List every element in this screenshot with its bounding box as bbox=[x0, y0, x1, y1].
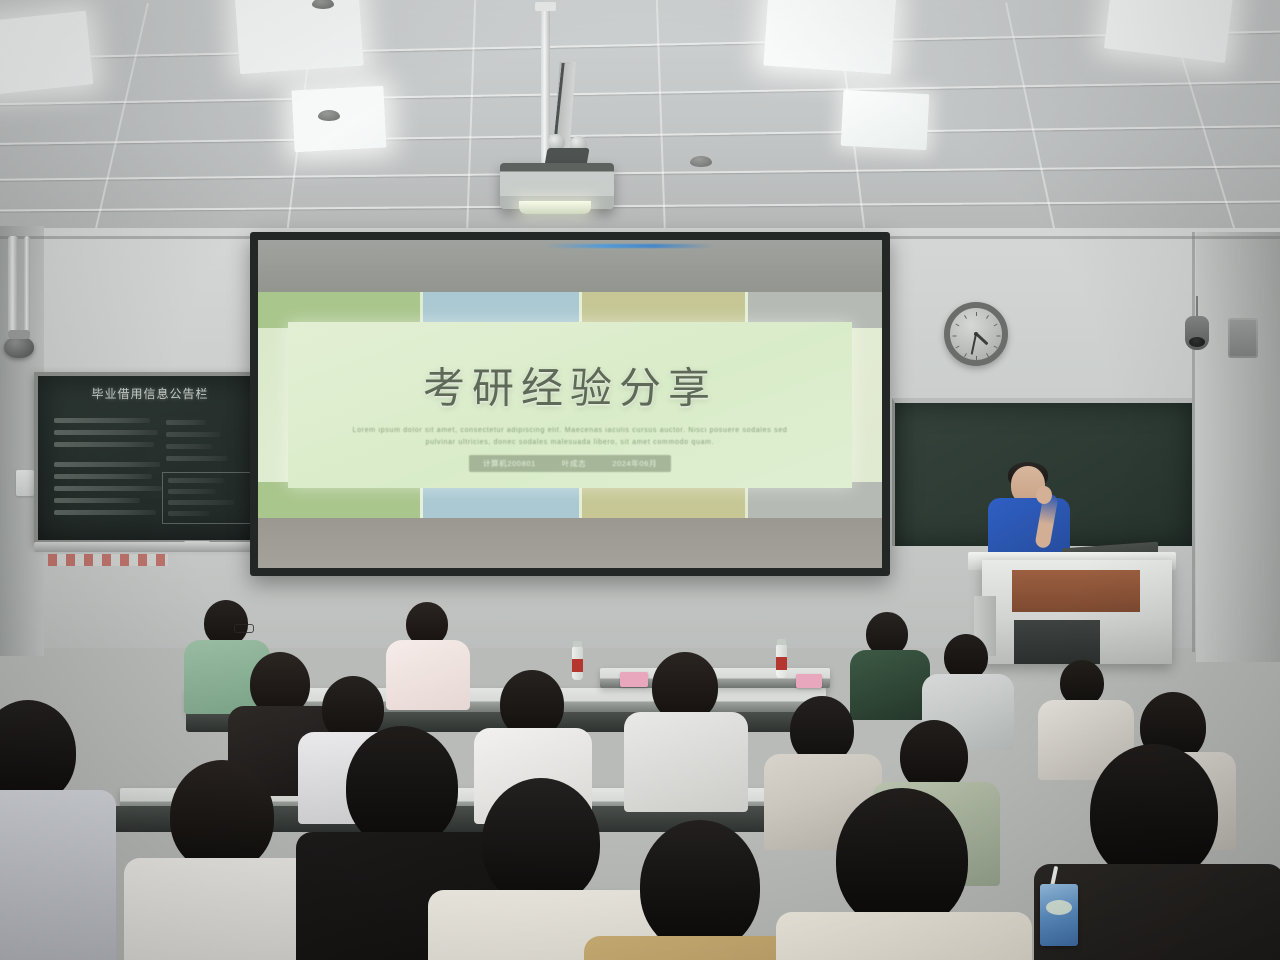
head bbox=[640, 820, 760, 952]
torso bbox=[776, 912, 1032, 960]
right-wall bbox=[1196, 232, 1280, 662]
ceiling-grid bbox=[0, 0, 1280, 240]
ceiling bbox=[0, 0, 1280, 240]
dome-camera-icon bbox=[4, 336, 34, 358]
torso bbox=[624, 712, 748, 812]
torso bbox=[386, 640, 470, 710]
projector-lens bbox=[519, 201, 591, 214]
podium-wood-panel bbox=[1012, 570, 1140, 612]
classroom-photo: 毕业借用信息公告栏 bbox=[0, 0, 1280, 960]
blackboard-left: 毕业借用信息公告栏 bbox=[34, 372, 266, 544]
projection-screen: 考研经验分享 Lorem ipsum dolor sit amet, conse… bbox=[258, 240, 882, 568]
presentation-slide: 考研经验分享 Lorem ipsum dolor sit amet, conse… bbox=[258, 292, 882, 518]
projection-screen-frame: 考研经验分享 Lorem ipsum dolor sit amet, conse… bbox=[250, 232, 890, 576]
screen-highlight bbox=[545, 244, 713, 248]
pink-item bbox=[620, 672, 648, 687]
head bbox=[0, 700, 76, 804]
slide-title: 考研经验分享 bbox=[288, 355, 852, 416]
head bbox=[170, 760, 274, 872]
ceiling-light bbox=[841, 90, 930, 150]
juice-box bbox=[1040, 884, 1078, 946]
ceiling-light bbox=[0, 11, 94, 96]
pink-item bbox=[796, 674, 822, 688]
clock-center bbox=[974, 332, 978, 336]
wall-utility-box bbox=[1228, 318, 1258, 358]
wall-poster-strip bbox=[48, 554, 168, 566]
water-bottle bbox=[776, 644, 787, 678]
projector-mount-cap bbox=[535, 2, 556, 11]
slide-footer: 计算机200801 叶成志 2024年06月 bbox=[469, 455, 671, 472]
blackboard-header: 毕业借用信息公告栏 bbox=[38, 385, 262, 402]
head bbox=[1090, 744, 1218, 882]
smoke-detector-icon bbox=[318, 110, 340, 121]
smoke-detector-icon bbox=[312, 0, 334, 9]
glasses-icon bbox=[234, 624, 254, 633]
clock-minute-hand bbox=[971, 334, 977, 355]
chalk-eraser bbox=[184, 541, 210, 550]
screen-letterbox-bottom bbox=[258, 518, 882, 568]
ceiling-light bbox=[291, 86, 386, 153]
wall-conduit bbox=[24, 236, 30, 332]
wall-clock bbox=[944, 302, 1008, 366]
torso bbox=[124, 858, 320, 960]
smoke-detector-icon bbox=[690, 156, 712, 167]
torso bbox=[850, 650, 930, 720]
wall-seam bbox=[1192, 232, 1195, 652]
slide-footer-date: 2024年06月 bbox=[612, 458, 657, 469]
torso bbox=[0, 790, 116, 960]
ceiling-light bbox=[763, 0, 897, 74]
slide-content-card: 考研经验分享 Lorem ipsum dolor sit amet, conse… bbox=[288, 322, 852, 488]
wall-outlet-plate bbox=[16, 470, 34, 496]
podium-recess bbox=[1014, 620, 1100, 664]
slide-footer-presenter: 叶成志 bbox=[562, 458, 586, 469]
speaker-wire bbox=[1196, 296, 1198, 318]
presenter-hand bbox=[1036, 486, 1052, 504]
ceiling-light bbox=[234, 0, 364, 74]
water-bottle bbox=[572, 646, 583, 680]
slide-footer-course: 计算机200801 bbox=[483, 458, 536, 469]
head bbox=[482, 778, 600, 906]
slide-subtitle: Lorem ipsum dolor sit amet, consectetur … bbox=[344, 425, 795, 449]
head bbox=[346, 726, 458, 848]
head bbox=[836, 788, 968, 930]
